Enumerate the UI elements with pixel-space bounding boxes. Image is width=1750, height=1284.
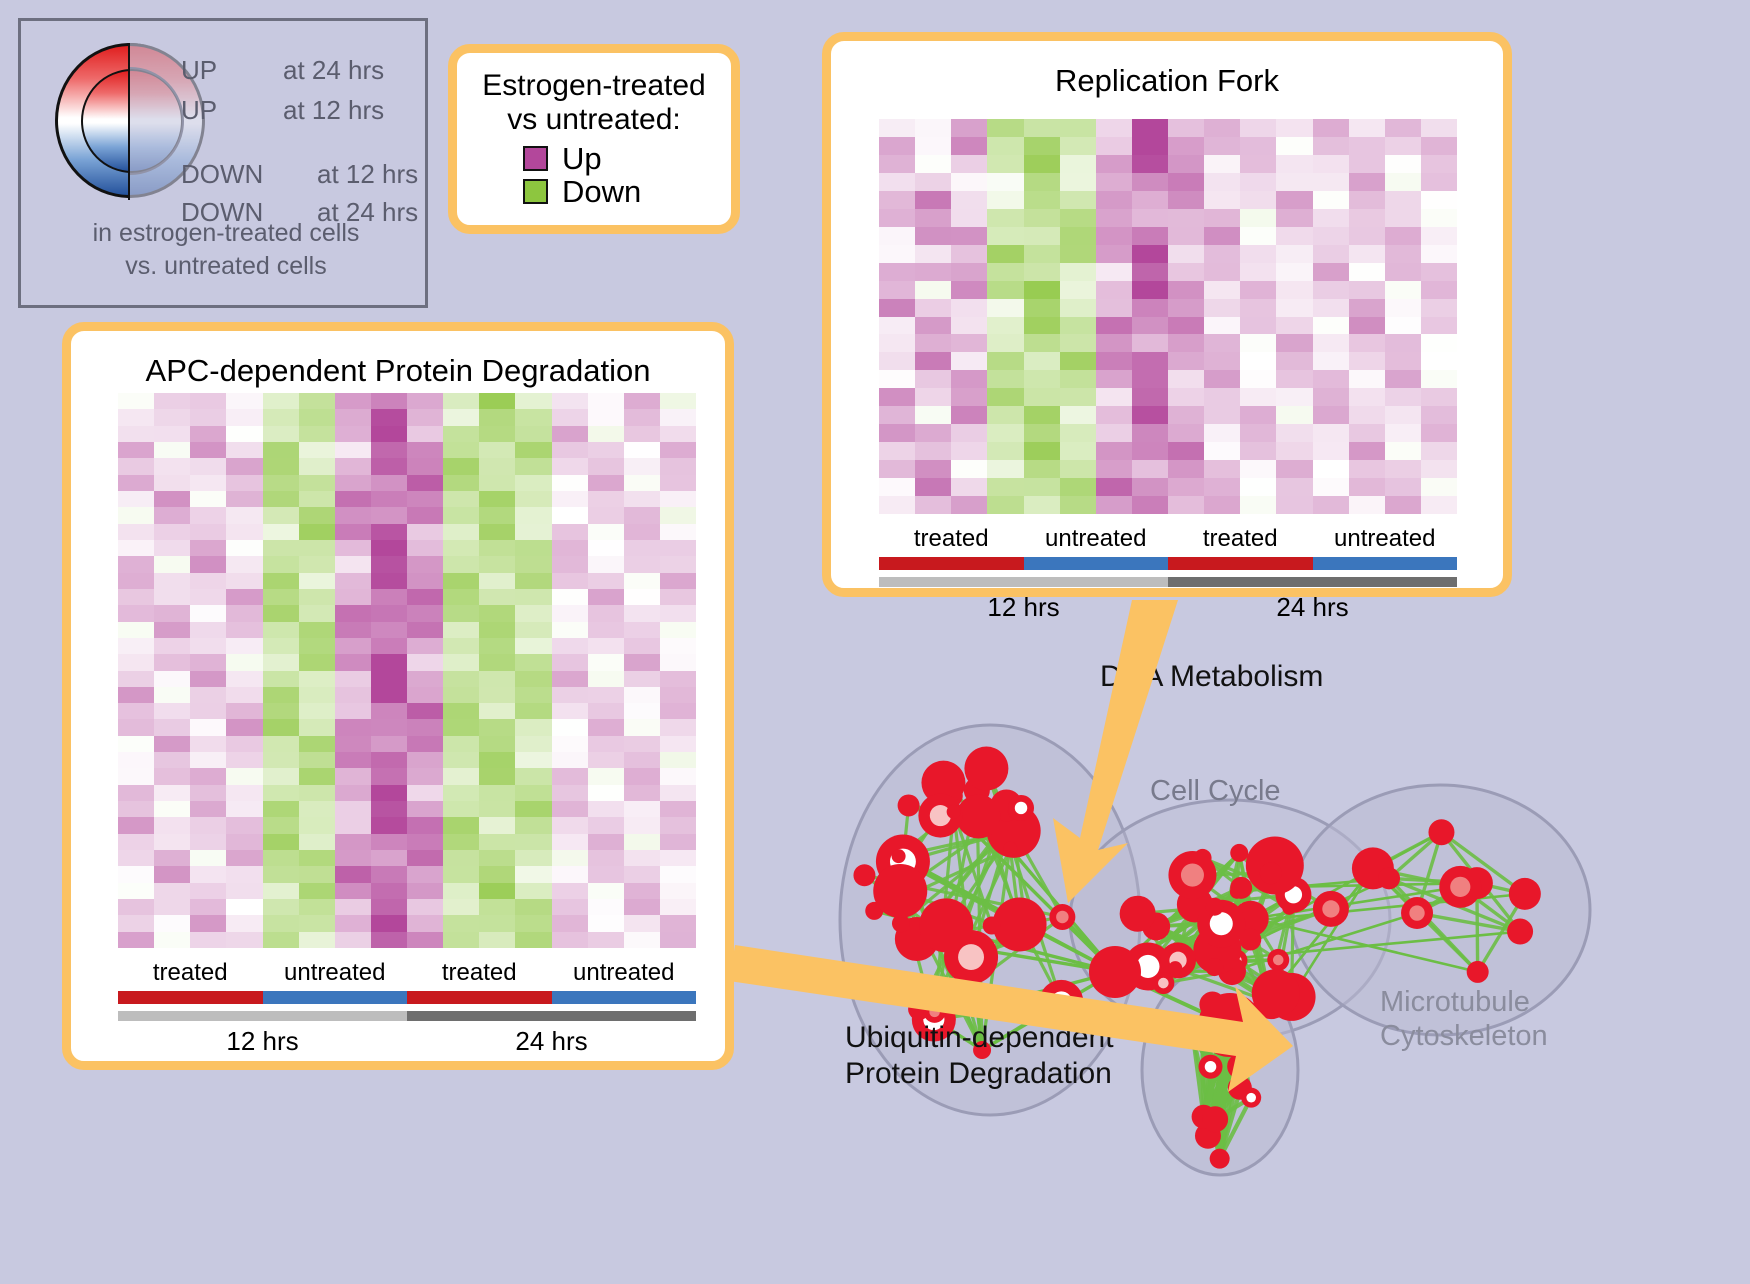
network-node-core	[1015, 802, 1027, 814]
heatmap-cell	[1349, 155, 1385, 173]
heatmap-cell	[660, 589, 696, 605]
condition-label: untreated	[552, 959, 697, 987]
heatmap-cell	[951, 155, 987, 173]
heatmap-cell	[987, 370, 1023, 388]
heatmap-cell	[1204, 370, 1240, 388]
heatmap-cell	[118, 654, 154, 670]
heatmap-cell	[552, 654, 588, 670]
heatmap-cell	[1204, 191, 1240, 209]
heatmap-cell	[515, 687, 551, 703]
network-node	[1089, 946, 1141, 998]
heatmap-cell	[915, 245, 951, 263]
heatmap-cell	[915, 388, 951, 406]
heatmap-cell	[1024, 424, 1060, 442]
heatmap-cell	[118, 556, 154, 572]
heatmap-cell	[624, 915, 660, 931]
heatmap-cell	[335, 687, 371, 703]
heatmap-cell	[1024, 155, 1060, 173]
heatmap-cell	[951, 137, 987, 155]
heatmap-cell	[951, 388, 987, 406]
heatmap-cell	[951, 191, 987, 209]
condition-color-bar	[118, 991, 696, 1004]
heatmap-cell	[1132, 370, 1168, 388]
heatmap-cell	[154, 540, 190, 556]
condition-bar-segment	[1024, 557, 1169, 570]
heatmap-cell	[407, 589, 443, 605]
heatmap-cell	[299, 507, 335, 523]
heatmap-cell	[190, 540, 226, 556]
heatmap-cell	[1096, 227, 1132, 245]
heatmap-cell	[118, 834, 154, 850]
heatmap-cell	[299, 932, 335, 948]
heatmap-cell	[660, 785, 696, 801]
heatmap-cell	[118, 622, 154, 638]
heatmap-cell	[588, 622, 624, 638]
heatmap-cell	[443, 409, 479, 425]
heatmap-cell	[371, 540, 407, 556]
network-node	[964, 747, 1008, 791]
heatmap-cell	[1313, 442, 1349, 460]
heatmap-cell	[552, 671, 588, 687]
heatmap-cell	[624, 458, 660, 474]
heatmap-cell	[118, 393, 154, 409]
heatmap-cell	[1168, 460, 1204, 478]
heatmap-cell	[1132, 424, 1168, 442]
heatmap-cell	[190, 915, 226, 931]
heatmap-cell	[1276, 281, 1312, 299]
heatmap-cell	[299, 671, 335, 687]
heatmap-cell	[154, 458, 190, 474]
heatmap-cell	[1168, 496, 1204, 514]
heatmap-cell	[1240, 209, 1276, 227]
network-node	[947, 805, 961, 819]
heatmap-cell	[552, 638, 588, 654]
heatmap-cell	[660, 409, 696, 425]
heatmap-cell	[552, 605, 588, 621]
heatmap-cell	[660, 883, 696, 899]
heatmap-cell	[226, 393, 262, 409]
heatmap-cell	[1313, 227, 1349, 245]
heatmap-cell	[335, 768, 371, 784]
pathway-network-diagram: DNA Metabolism Cell Cycle Microtubule Cy…	[800, 620, 1750, 1279]
heatmap-cell	[299, 703, 335, 719]
heatmap-cell	[407, 785, 443, 801]
heatmap-cell	[552, 442, 588, 458]
heatmap-cell	[1385, 245, 1421, 263]
heatmap-cell	[515, 442, 551, 458]
heatmap-cell	[624, 736, 660, 752]
condition-label: treated	[118, 959, 263, 987]
heatmap-cell	[1204, 317, 1240, 335]
heatmap-cell	[335, 475, 371, 491]
heatmap-cell	[118, 817, 154, 833]
heatmap-cell	[371, 605, 407, 621]
heatmap-cell	[660, 393, 696, 409]
network-node	[898, 794, 920, 816]
heatmap-cell	[951, 209, 987, 227]
heatmap-cell	[1024, 478, 1060, 496]
heatmap-cell	[879, 496, 915, 514]
heatmap-cell	[660, 850, 696, 866]
heatmap-cell	[263, 638, 299, 654]
heatmap-cell	[371, 932, 407, 948]
condition-label: treated	[879, 525, 1024, 553]
heatmap-cell	[1421, 442, 1457, 460]
heatmap-cell	[443, 932, 479, 948]
heatmap-cell	[443, 475, 479, 491]
heatmap-cell	[154, 638, 190, 654]
heatmap-cell	[987, 478, 1023, 496]
heatmap-cell	[915, 424, 951, 442]
heatmap-cell	[1421, 478, 1457, 496]
heatmap-cell	[118, 507, 154, 523]
heatmap-cell	[588, 589, 624, 605]
heatmap-cell	[263, 458, 299, 474]
heatmap-cell	[552, 409, 588, 425]
heatmap-cell	[624, 768, 660, 784]
heatmap-cell	[190, 605, 226, 621]
network-node-core	[1322, 900, 1339, 917]
heatmap-cell	[1060, 460, 1096, 478]
network-node	[1252, 969, 1300, 1017]
heatmap-cell	[443, 393, 479, 409]
heatmap-cell	[915, 137, 951, 155]
condition-labels: treateduntreatedtreateduntreated	[879, 525, 1457, 553]
heatmap-cell	[263, 540, 299, 556]
heatmap-cell	[299, 491, 335, 507]
heatmap-cell	[879, 173, 915, 191]
replication-fork-axis: treateduntreatedtreateduntreated 12 hrs2…	[879, 525, 1457, 623]
heatmap-cell	[1349, 424, 1385, 442]
heatmap-cell	[299, 654, 335, 670]
heatmap-cell	[987, 263, 1023, 281]
microtubule-line1: Microtubule	[1380, 985, 1548, 1019]
heatmap-cell	[588, 736, 624, 752]
heatmap-cell	[1060, 281, 1096, 299]
replication-fork-heatmap	[879, 119, 1457, 514]
heatmap-cell	[335, 736, 371, 752]
heatmap-cell	[915, 317, 951, 335]
heatmap-cell	[987, 406, 1023, 424]
heatmap-cell	[1024, 388, 1060, 406]
heatmap-cell	[479, 866, 515, 882]
heatmap-cell	[1421, 424, 1457, 442]
heatmap-cell	[1421, 191, 1457, 209]
heatmap-cell	[263, 719, 299, 735]
heatmap-cell	[1240, 155, 1276, 173]
heatmap-cell	[190, 785, 226, 801]
heatmap-cell	[226, 524, 262, 540]
heatmap-cell	[1240, 191, 1276, 209]
heatmap-cell	[1204, 263, 1240, 281]
network-node	[1467, 961, 1489, 983]
time-labels: 12 hrs24 hrs	[879, 592, 1457, 623]
heatmap-cell	[552, 719, 588, 735]
condition-bar-segment	[879, 557, 1024, 570]
heatmap-cell	[479, 491, 515, 507]
heatmap-cell	[154, 507, 190, 523]
heatmap-cell	[1240, 460, 1276, 478]
heatmap-cell	[190, 801, 226, 817]
heatmap-cell	[299, 785, 335, 801]
heatmap-cell	[479, 622, 515, 638]
heatmap-cell	[479, 426, 515, 442]
heatmap-cell	[1204, 281, 1240, 299]
heatmap-cell	[443, 801, 479, 817]
network-node	[1120, 896, 1156, 932]
heatmap-cell	[335, 556, 371, 572]
heatmap-cell	[1421, 173, 1457, 191]
heatmap-cell	[1024, 299, 1060, 317]
heatmap-cell	[624, 524, 660, 540]
heatmap-cell	[263, 785, 299, 801]
key-direction-0: UP	[181, 55, 217, 86]
heatmap-cell	[624, 687, 660, 703]
heatmap-cell	[335, 442, 371, 458]
heatmap-cell	[479, 736, 515, 752]
heatmap-cell	[407, 736, 443, 752]
heatmap-cell	[1349, 496, 1385, 514]
heatmap-cell	[951, 370, 987, 388]
heatmap-cell	[226, 866, 262, 882]
heatmap-cell	[660, 866, 696, 882]
heatmap-cell	[1385, 496, 1421, 514]
heatmap-cell	[1060, 137, 1096, 155]
heatmap-cell	[443, 491, 479, 507]
heatmap-cell	[335, 540, 371, 556]
heatmap-cell	[190, 850, 226, 866]
heatmap-cell	[443, 736, 479, 752]
heatmap-cell	[118, 703, 154, 719]
heatmap-cell	[1349, 352, 1385, 370]
heatmap-cell	[154, 409, 190, 425]
heatmap-cell	[263, 524, 299, 540]
heatmap-cell	[1276, 317, 1312, 335]
heatmap-cell	[371, 850, 407, 866]
heatmap-cell	[1024, 352, 1060, 370]
heatmap-cell	[1024, 281, 1060, 299]
heatmap-cell	[1204, 245, 1240, 263]
heatmap-cell	[371, 687, 407, 703]
network-node	[873, 864, 927, 918]
time-bar-segment	[1168, 577, 1457, 587]
heatmap-cell	[552, 458, 588, 474]
heatmap-cell	[624, 671, 660, 687]
heatmap-cell	[987, 317, 1023, 335]
heatmap-cell	[879, 317, 915, 335]
heatmap-cell	[1168, 299, 1204, 317]
heatmap-cell	[226, 752, 262, 768]
heatmap-cell	[1060, 155, 1096, 173]
heatmap-cell	[1204, 388, 1240, 406]
heatmap-cell	[1240, 334, 1276, 352]
time-color-bar	[118, 1011, 696, 1021]
heatmap-cell	[371, 752, 407, 768]
condition-label: untreated	[1313, 525, 1458, 553]
heatmap-cell	[987, 173, 1023, 191]
heatmap-cell	[515, 524, 551, 540]
ubiquitin-line1: Ubiquitin-dependent	[845, 1020, 1114, 1056]
microtubule-line2: Cytoskeleton	[1380, 1019, 1548, 1053]
heatmap-cell	[588, 915, 624, 931]
heatmap-cell	[1385, 263, 1421, 281]
heatmap-cell	[1060, 442, 1096, 460]
heatmap-cell	[1349, 370, 1385, 388]
key-footer-line1: in estrogen-treated cells	[21, 217, 431, 250]
heatmap-cell	[154, 899, 190, 915]
heatmap-cell	[1421, 317, 1457, 335]
heatmap-cell	[335, 785, 371, 801]
heatmap-cell	[1385, 227, 1421, 245]
heatmap-cell	[879, 155, 915, 173]
heatmap-cell	[407, 883, 443, 899]
heatmap-cell	[951, 119, 987, 137]
heatmap-cell	[1204, 352, 1240, 370]
heatmap-cell	[226, 638, 262, 654]
heatmap-cell	[1168, 352, 1204, 370]
heatmap-cell	[1385, 478, 1421, 496]
heatmap-cell	[660, 736, 696, 752]
time-label: 12 hrs	[118, 1026, 407, 1057]
heatmap-cell	[915, 478, 951, 496]
heatmap-cell	[1096, 478, 1132, 496]
heatmap-cell	[552, 622, 588, 638]
heatmap-cell	[987, 299, 1023, 317]
key-direction-1: UP	[181, 95, 217, 126]
heatmap-cell	[299, 866, 335, 882]
heatmap-cell	[371, 458, 407, 474]
heatmap-cell	[624, 752, 660, 768]
heatmap-cell	[1313, 388, 1349, 406]
heatmap-cell	[879, 478, 915, 496]
heatmap-cell	[660, 719, 696, 735]
heatmap-cell	[1421, 281, 1457, 299]
heatmap-cell	[118, 687, 154, 703]
heatmap-cell	[371, 573, 407, 589]
heatmap-cell	[407, 556, 443, 572]
heatmap-cell	[1204, 227, 1240, 245]
heatmap-cell	[299, 458, 335, 474]
heatmap-cell	[1132, 227, 1168, 245]
heatmap-cell	[263, 573, 299, 589]
heatmap-cell	[118, 752, 154, 768]
heatmap-cell	[588, 883, 624, 899]
heatmap-cell	[660, 605, 696, 621]
heatmap-cell	[118, 524, 154, 540]
heatmap-cell	[1060, 370, 1096, 388]
heatmap-cell	[1096, 209, 1132, 227]
heatmap-cell	[226, 883, 262, 899]
network-node	[1003, 842, 1017, 856]
network-node	[892, 849, 906, 863]
heatmap-cell	[915, 119, 951, 137]
network-node	[1230, 844, 1248, 862]
heatmap-cell	[951, 281, 987, 299]
heatmap-cell	[226, 442, 262, 458]
heatmap-cell	[479, 442, 515, 458]
heatmap-cell	[588, 719, 624, 735]
heatmap-cell	[263, 768, 299, 784]
heatmap-cell	[118, 409, 154, 425]
heatmap-cell	[1168, 263, 1204, 281]
heatmap-cell	[660, 687, 696, 703]
cluster-label-microtubule: Microtubule Cytoskeleton	[1380, 985, 1548, 1053]
heatmap-cell	[1132, 496, 1168, 514]
heatmap-cell	[624, 932, 660, 948]
heatmap-cell	[660, 768, 696, 784]
heatmap-cell	[515, 605, 551, 621]
heatmap-cell	[515, 622, 551, 638]
heatmap-cell	[588, 850, 624, 866]
network-node-core	[929, 1007, 940, 1018]
heatmap-cell	[879, 245, 915, 263]
heatmap-cell	[118, 736, 154, 752]
heatmap-cell	[479, 817, 515, 833]
heatmap-cell	[879, 460, 915, 478]
heatmap-cell	[407, 426, 443, 442]
heatmap-cell	[479, 654, 515, 670]
heatmap-cell	[915, 406, 951, 424]
heatmap-cell	[1385, 442, 1421, 460]
heatmap-cell	[1096, 317, 1132, 335]
condition-label: treated	[1168, 525, 1313, 553]
heatmap-cell	[660, 801, 696, 817]
heatmap-cell	[951, 263, 987, 281]
heatmap-cell	[624, 817, 660, 833]
heatmap-cell	[1168, 317, 1204, 335]
heatmap-cell	[552, 573, 588, 589]
heatmap-cell	[1132, 460, 1168, 478]
heatmap-cell	[443, 458, 479, 474]
heatmap-cell	[118, 785, 154, 801]
heatmap-cell	[879, 191, 915, 209]
heatmap-cell	[987, 209, 1023, 227]
heatmap-cell	[987, 137, 1023, 155]
heatmap-cell	[335, 866, 371, 882]
heatmap-cell	[226, 622, 262, 638]
heatmap-cell	[1168, 370, 1204, 388]
heatmap-cell	[1168, 173, 1204, 191]
heatmap-cell	[624, 899, 660, 915]
heatmap-cell	[371, 768, 407, 784]
heatmap-cell	[588, 507, 624, 523]
heatmap-cell	[1204, 155, 1240, 173]
heatmap-cell	[660, 817, 696, 833]
heatmap-cell	[1349, 281, 1385, 299]
condition-labels: treateduntreatedtreateduntreated	[118, 959, 696, 987]
heatmap-cell	[552, 475, 588, 491]
heatmap-cell	[515, 573, 551, 589]
heatmap-cell	[263, 752, 299, 768]
heatmap-cell	[118, 850, 154, 866]
heatmap-cell	[951, 442, 987, 460]
heatmap-cell	[263, 899, 299, 915]
heatmap-cell	[1024, 137, 1060, 155]
network-node-core	[1205, 1061, 1217, 1073]
time-label: 24 hrs	[407, 1026, 696, 1057]
heatmap-cell	[443, 426, 479, 442]
network-node-core	[958, 944, 984, 970]
heatmap-cell	[1096, 496, 1132, 514]
key-direction-2: DOWN	[181, 159, 263, 190]
heatmap-cell	[660, 442, 696, 458]
heatmap-cell	[951, 334, 987, 352]
heatmap-cell	[335, 589, 371, 605]
network-node-core	[1051, 991, 1072, 1012]
heatmap-cell	[226, 426, 262, 442]
heatmap-cell	[1132, 406, 1168, 424]
heatmap-cell	[552, 703, 588, 719]
